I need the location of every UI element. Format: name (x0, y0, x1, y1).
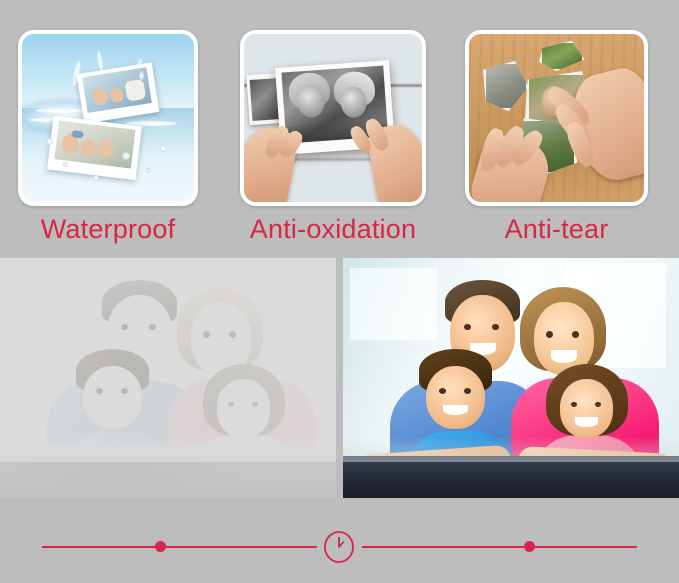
waterproof-card-frame (18, 30, 198, 206)
infographic-root: Waterproof (0, 0, 679, 583)
anti-tear-card-frame (465, 30, 648, 206)
feature-card-waterproof[interactable]: Waterproof (18, 30, 198, 206)
divider-dot-left (153, 539, 169, 555)
feature-card-anti-tear[interactable]: Anti-tear (465, 30, 648, 206)
anti-oxidation-card-frame (240, 30, 426, 206)
feature-label-anti-tear: Anti-tear (465, 212, 648, 246)
hands-holding-photo-image (244, 34, 422, 202)
feature-card-row: Waterproof (0, 0, 679, 256)
feature-label-anti-oxidation: Anti-oxidation (240, 212, 426, 246)
decorative-divider (0, 498, 679, 583)
divider-dot-right (522, 539, 538, 555)
clock-icon (322, 530, 356, 564)
vivid-family-photo-image (343, 258, 679, 498)
feature-card-anti-oxidation[interactable]: Anti-oxidation (240, 30, 426, 206)
divider-line-right (362, 546, 637, 548)
photo-comparison-row (0, 258, 679, 498)
comparison-photo-vivid[interactable] (343, 258, 679, 498)
comparison-photo-faded[interactable] (0, 258, 336, 498)
faded-family-photo-image (0, 258, 336, 498)
feature-label-waterproof: Waterproof (18, 212, 198, 246)
torn-photo-image (469, 34, 644, 202)
divider-line-left (42, 546, 317, 548)
water-splash-photo-image (22, 34, 194, 202)
